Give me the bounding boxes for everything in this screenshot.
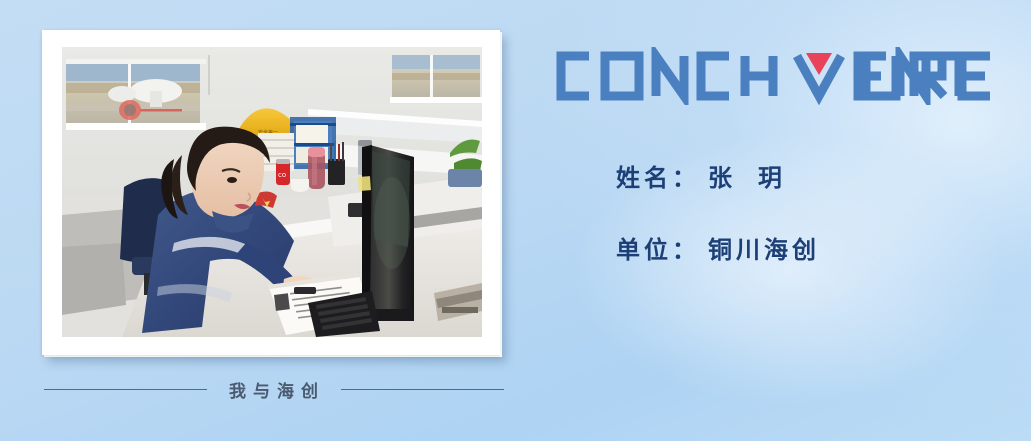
unit-label: 单位： bbox=[616, 236, 700, 264]
name-label: 姓名： bbox=[616, 164, 700, 192]
photo-frame: 安全第一 co bbox=[42, 30, 500, 355]
employee-unit-row: 单位：铜川海创 bbox=[616, 238, 996, 262]
caption-text: 我与海创 bbox=[207, 377, 341, 402]
caption-rule-left bbox=[44, 389, 207, 390]
photo-image: 安全第一 co bbox=[62, 47, 482, 337]
name-value: 张玥 bbox=[700, 164, 786, 192]
unit-value: 铜川海创 bbox=[700, 236, 820, 264]
svg-text:co: co bbox=[278, 171, 286, 179]
slide-canvas: 安全第一 co bbox=[0, 0, 1031, 441]
employee-name-row: 姓名：张玥 bbox=[616, 166, 996, 190]
conch-venture-logo-tail bbox=[856, 47, 1006, 105]
caption-bar: 我与海创 bbox=[44, 376, 504, 402]
caption-rule-right bbox=[341, 389, 504, 390]
employee-info: 姓名：张玥 单位：铜川海创 bbox=[616, 166, 996, 262]
